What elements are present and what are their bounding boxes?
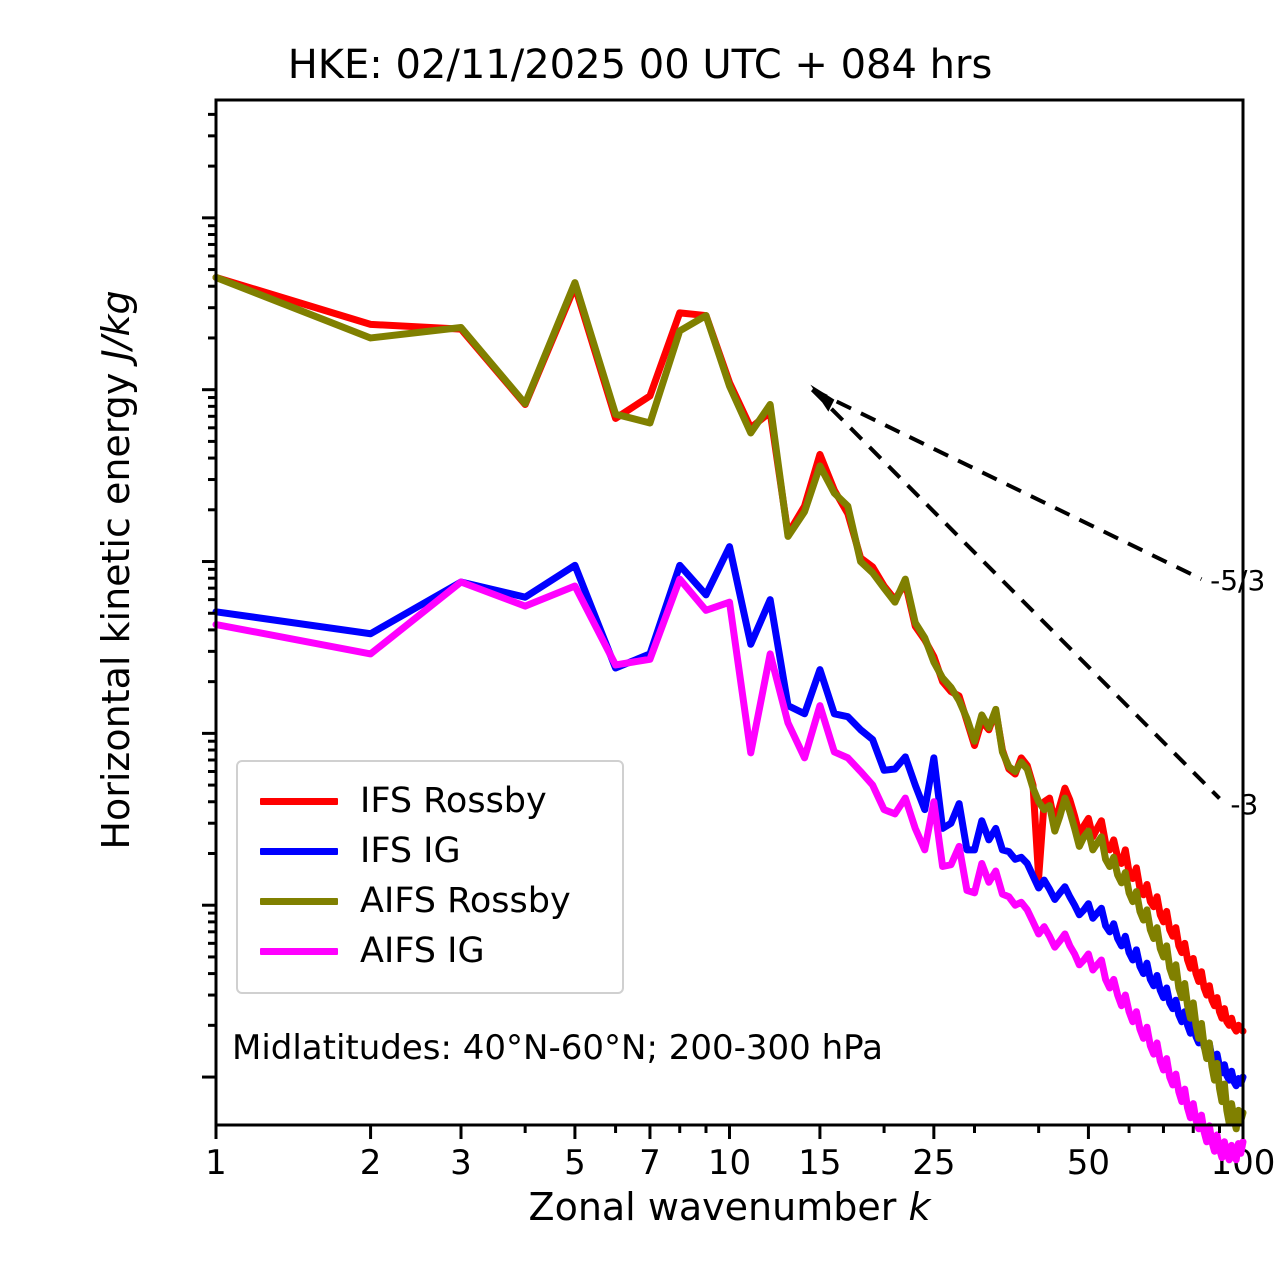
legend-swatch-icon [260,848,338,855]
slope-label-five-thirds: -5/3 [1210,564,1265,597]
legend-item-aifs-rossby[interactable]: AIFS Rossby [238,876,622,926]
x-tick-label: 15 [760,1143,880,1183]
slope-label-three: -3 [1230,788,1258,821]
legend-swatch-icon [260,798,338,805]
legend-item-aifs-ig[interactable]: AIFS IG [238,926,622,976]
legend[interactable]: IFS RossbyIFS IGAIFS RossbyAIFS IG [236,760,624,994]
slope-arrow-icon [810,385,834,412]
slope-line-five-thirds [812,390,1201,579]
legend-swatch-icon [260,948,338,955]
legend-item-label: AIFS IG [360,931,485,971]
figure: HKE: 02/11/2025 00 UTC + 084 hrs Horizon… [0,0,1280,1288]
legend-item-ifs-ig[interactable]: IFS IG [238,826,622,876]
region-annotation: Midlatitudes: 40°N-60°N; 200-300 hPa [232,1028,883,1068]
x-tick-label: 50 [1028,1143,1148,1183]
series-line-aifs-rossby [216,277,1243,1128]
x-tick-label: 1 [156,1143,276,1183]
legend-item-label: AIFS Rossby [360,881,571,921]
x-tick-label: 25 [874,1143,994,1183]
x-tick-label: 3 [401,1143,521,1183]
legend-swatch-icon [260,898,338,905]
legend-item-label: IFS IG [360,831,461,871]
legend-item-label: IFS Rossby [360,781,547,821]
legend-item-ifs-rossby[interactable]: IFS Rossby [238,776,622,826]
